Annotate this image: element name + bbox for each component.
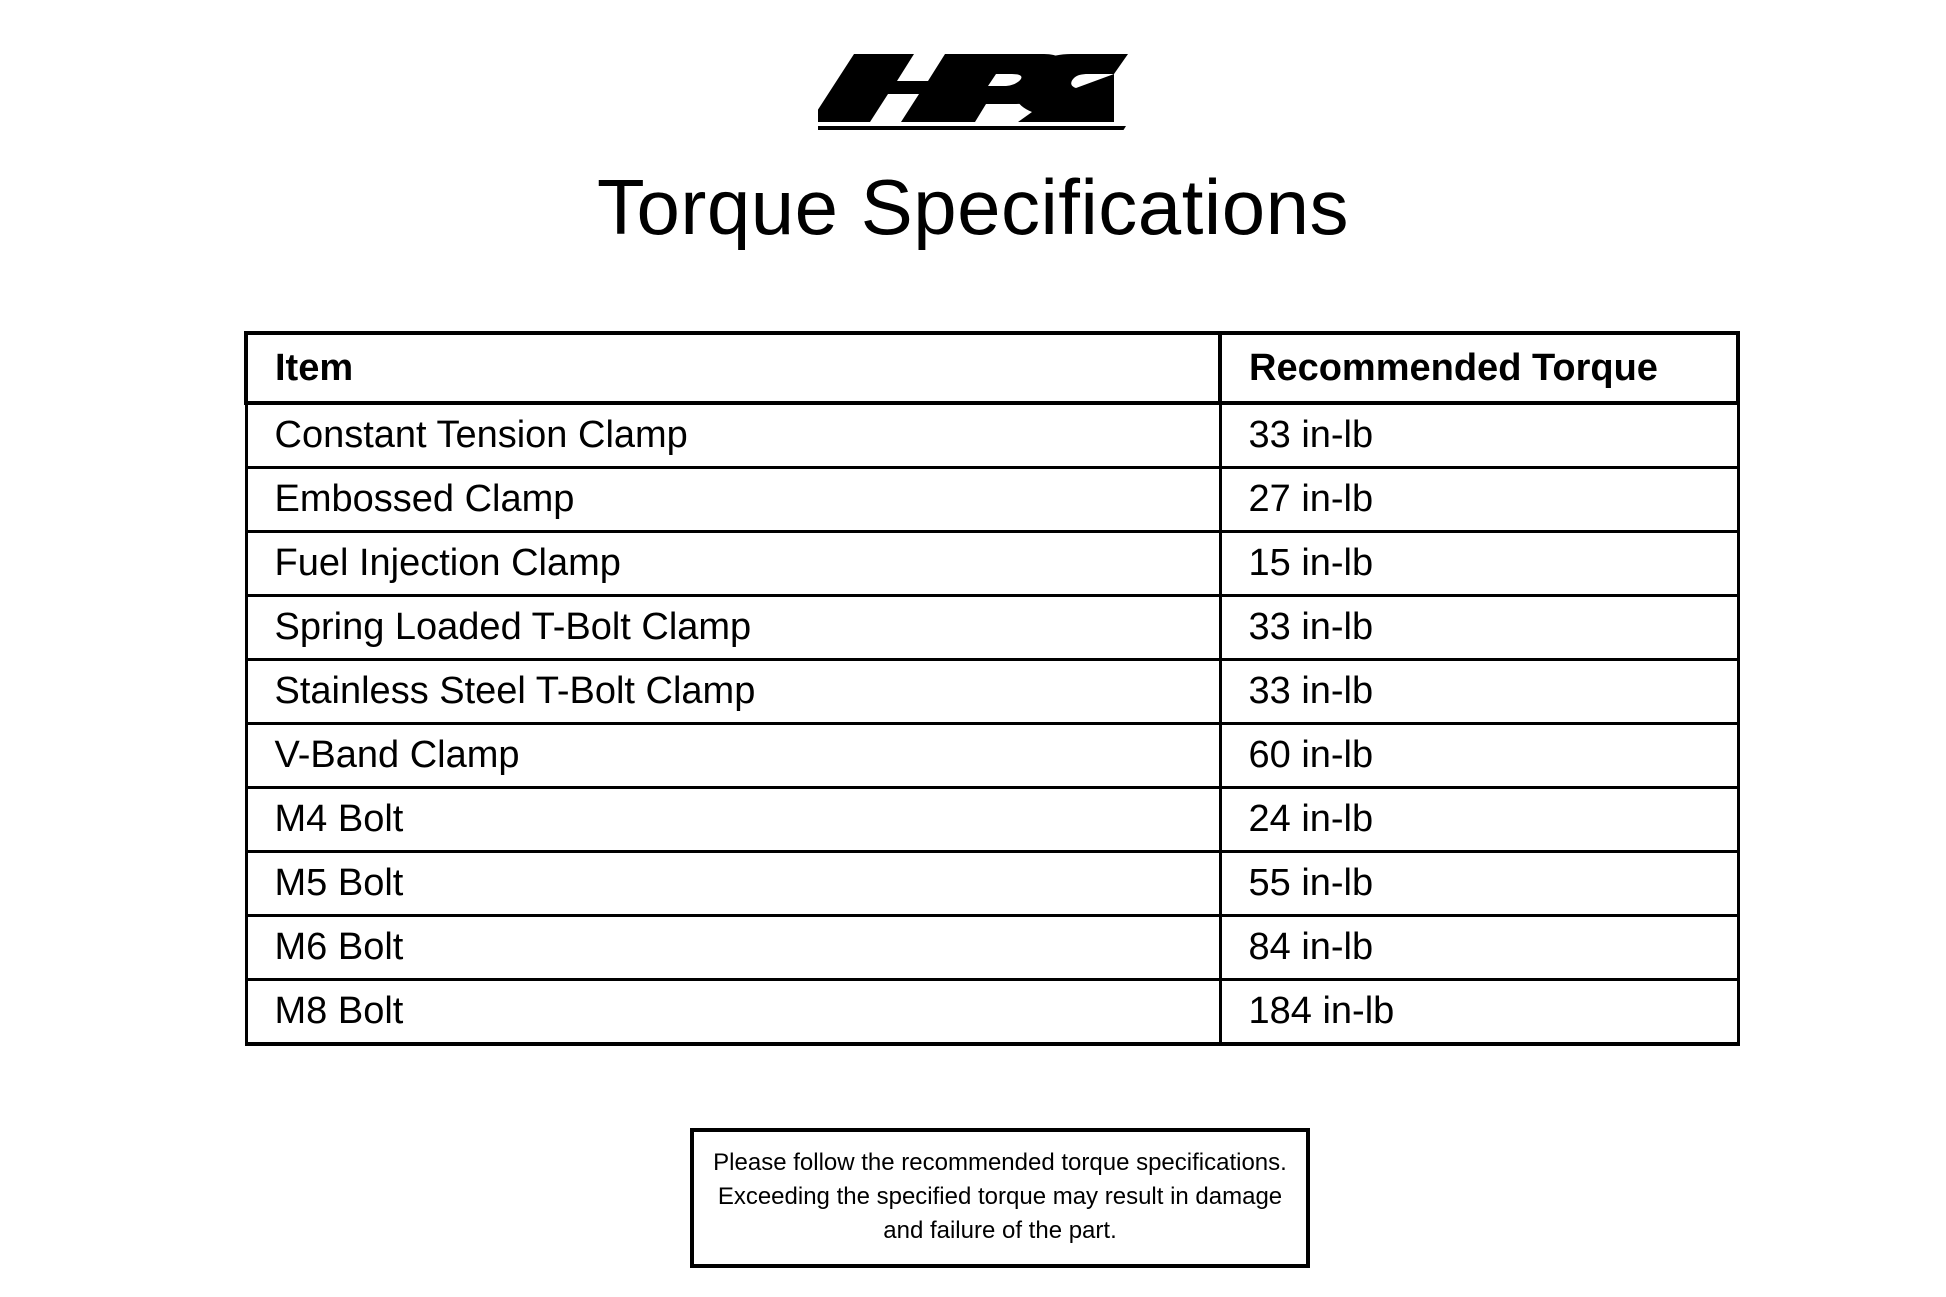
column-header-recommended-torque: Recommended Torque	[1220, 333, 1738, 403]
cell-torque: 33 in-lb	[1220, 596, 1738, 660]
table-row: Constant Tension Clamp 33 in-lb	[246, 403, 1738, 468]
column-header-item: Item	[246, 333, 1220, 403]
cell-torque: 184 in-lb	[1220, 980, 1738, 1045]
table-row: Spring Loaded T-Bolt Clamp 33 in-lb	[246, 596, 1738, 660]
table-row: Embossed Clamp 27 in-lb	[246, 468, 1738, 532]
cell-torque: 33 in-lb	[1220, 403, 1738, 468]
torque-table-container: Item Recommended Torque Constant Tension…	[244, 331, 1736, 1046]
table-row: V-Band Clamp 60 in-lb	[246, 724, 1738, 788]
table-row: M8 Bolt 184 in-lb	[246, 980, 1738, 1045]
torque-specifications-table: Item Recommended Torque Constant Tension…	[244, 331, 1740, 1046]
note-line-1: Please follow the recommended torque spe…	[708, 1146, 1292, 1180]
table-row: M6 Bolt 84 in-lb	[246, 916, 1738, 980]
cell-item: Stainless Steel T-Bolt Clamp	[246, 660, 1220, 724]
table-header-row: Item Recommended Torque	[246, 333, 1738, 403]
cell-item: V-Band Clamp	[246, 724, 1220, 788]
cell-item: Constant Tension Clamp	[246, 403, 1220, 468]
cell-torque: 24 in-lb	[1220, 788, 1738, 852]
cell-torque: 60 in-lb	[1220, 724, 1738, 788]
cell-torque: 15 in-lb	[1220, 532, 1738, 596]
page-title: Torque Specifications	[0, 168, 1946, 246]
note-line-2: Exceeding the specified torque may resul…	[708, 1180, 1292, 1214]
cell-item: M5 Bolt	[246, 852, 1220, 916]
cell-item: Embossed Clamp	[246, 468, 1220, 532]
note-line-3: and failure of the part.	[708, 1214, 1292, 1248]
table-row: M4 Bolt 24 in-lb	[246, 788, 1738, 852]
table-row: M5 Bolt 55 in-lb	[246, 852, 1738, 916]
cell-item: Fuel Injection Clamp	[246, 532, 1220, 596]
cell-torque: 55 in-lb	[1220, 852, 1738, 916]
cell-item: M6 Bolt	[246, 916, 1220, 980]
table-body: Constant Tension Clamp 33 in-lb Embossed…	[246, 403, 1738, 1044]
cell-torque: 33 in-lb	[1220, 660, 1738, 724]
cell-torque: 27 in-lb	[1220, 468, 1738, 532]
cell-item: M4 Bolt	[246, 788, 1220, 852]
cell-item: M8 Bolt	[246, 980, 1220, 1045]
brand-logo	[0, 34, 1946, 130]
warning-note-box: Please follow the recommended torque spe…	[690, 1128, 1310, 1268]
table-row: Fuel Injection Clamp 15 in-lb	[246, 532, 1738, 596]
cell-item: Spring Loaded T-Bolt Clamp	[246, 596, 1220, 660]
table-header: Item Recommended Torque	[246, 333, 1738, 403]
cell-torque: 84 in-lb	[1220, 916, 1738, 980]
table-row: Stainless Steel T-Bolt Clamp 33 in-lb	[246, 660, 1738, 724]
hps-logo-icon	[818, 34, 1128, 130]
